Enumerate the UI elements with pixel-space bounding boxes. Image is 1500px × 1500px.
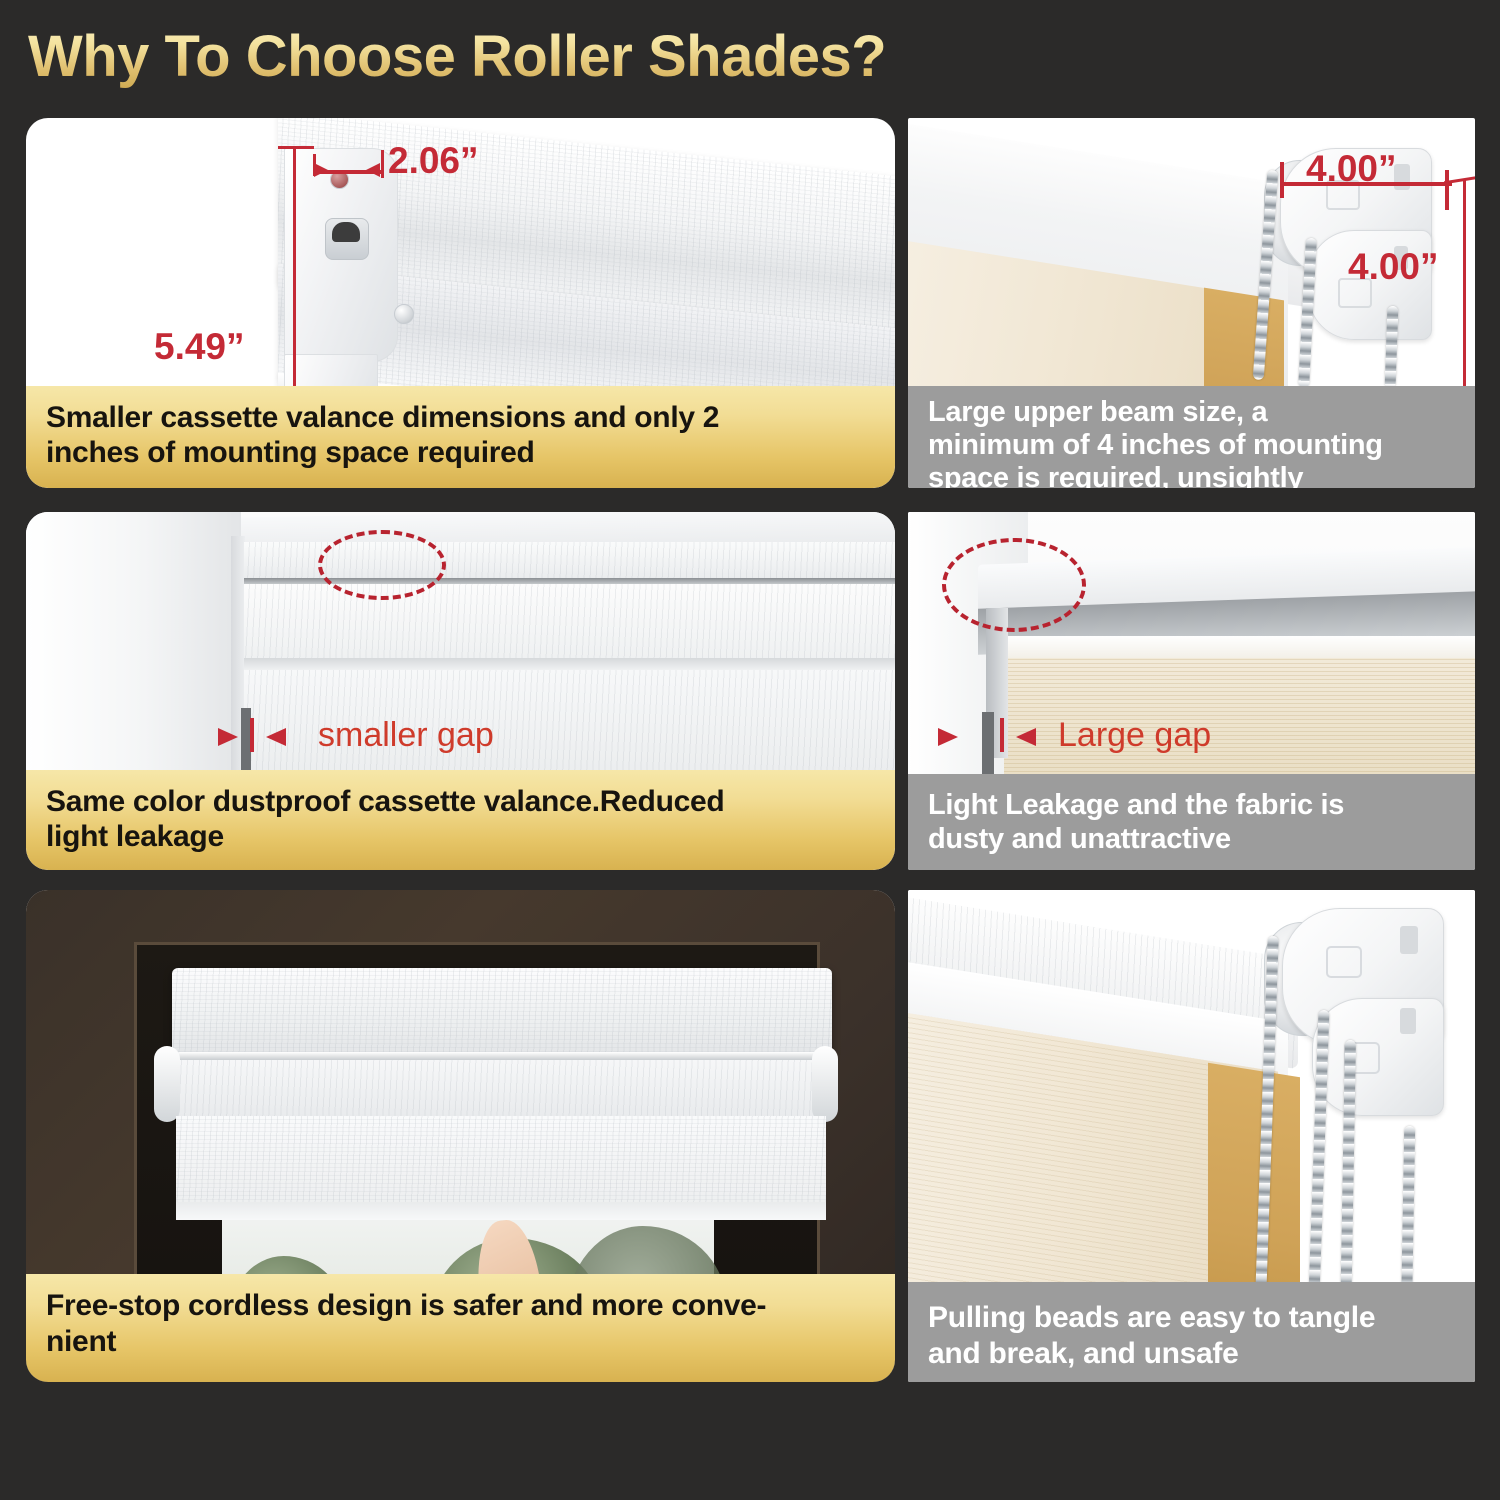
caption-line: and break, and unsafe xyxy=(928,1336,1457,1372)
page-title: Why To Choose Roller Shades? xyxy=(28,18,1228,96)
caption-smaller-cassette: Smaller cassette valance dimensions and … xyxy=(26,386,895,488)
panel-large-gap: Large gap Light Leakage and the fabric i… xyxy=(908,512,1475,870)
caption-pulling-beads: Pulling beads are easy to tangle and bre… xyxy=(908,1282,1475,1382)
caption-line: nient xyxy=(46,1324,877,1360)
caption-line: space is required, unsightly xyxy=(928,462,1457,488)
shade-fabric-top xyxy=(176,1060,826,1116)
beam-width-dimension-label: 4.00” xyxy=(1306,148,1397,190)
panel-cordless-design: Free-stop cordless design is safer and m… xyxy=(26,890,895,1382)
height-dimension-label: 5.49” xyxy=(154,326,245,368)
caption-line: inches of mounting space required xyxy=(46,435,877,470)
caption-line: dusty and unattractive xyxy=(928,822,1457,856)
caption-large-upper-beam: Large upper beam size, a minimum of 4 in… xyxy=(908,386,1475,488)
caption-cordless-design: Free-stop cordless design is safer and m… xyxy=(26,1274,895,1382)
bracket-slot xyxy=(1400,926,1418,954)
cassette-valance xyxy=(172,968,832,1060)
left-end-cap xyxy=(154,1046,180,1122)
caption-large-gap: Light Leakage and the fabric is dusty an… xyxy=(908,774,1475,870)
gap-arrow-right-icon xyxy=(218,728,238,746)
valance-mechanism-slot xyxy=(325,218,369,260)
gap-arrow-right-icon xyxy=(938,728,958,746)
width-dimension-label: 2.06” xyxy=(388,140,479,182)
caption-line: Smaller cassette valance dimensions and … xyxy=(46,400,877,435)
gap-indicator xyxy=(982,712,994,774)
bracket-slot xyxy=(1400,1008,1416,1034)
caption-line: Large upper beam size, a xyxy=(928,396,1457,429)
caption-smaller-gap: Same color dustproof cassette valance.Re… xyxy=(26,770,895,870)
right-end-cap xyxy=(812,1046,838,1122)
panel-smaller-gap: smaller gap Same color dustproof cassett… xyxy=(26,512,895,870)
caption-line: Same color dustproof cassette valance.Re… xyxy=(46,784,877,819)
bottom-rail xyxy=(176,1202,826,1220)
caption-line: light leakage xyxy=(46,819,877,854)
panel-large-upper-beam: 4.00” 4.00” Large upper beam size, a min… xyxy=(908,118,1475,488)
bracket-arrow-icon xyxy=(1326,946,1362,978)
caption-line: Light Leakage and the fabric is xyxy=(928,788,1457,822)
caption-line: minimum of 4 inches of mounting xyxy=(928,429,1457,462)
gap-arrow-left-icon xyxy=(1016,728,1036,746)
panel-pulling-beads: Pulling beads are easy to tangle and bre… xyxy=(908,890,1475,1382)
beam-height-dimension-label: 4.00” xyxy=(1348,246,1439,288)
shade-fabric-main xyxy=(176,1116,826,1216)
bead-chain xyxy=(1385,306,1399,388)
gap-arrow-left-icon xyxy=(266,728,286,746)
caption-line: Pulling beads are easy to tangle xyxy=(928,1300,1457,1336)
highlight-ellipse-gap xyxy=(942,538,1086,632)
window-jamb xyxy=(26,512,241,770)
smaller-gap-label: smaller gap xyxy=(318,716,494,755)
highlight-ellipse-gap xyxy=(318,530,446,600)
panel-smaller-cassette: 2.06” 5.49” Smaller cassette valance dim… xyxy=(26,118,895,488)
beam-height-dimension-line xyxy=(1463,180,1466,420)
caption-line: Free-stop cordless design is safer and m… xyxy=(46,1288,877,1324)
valance-seam xyxy=(176,1052,826,1060)
large-gap-label: Large gap xyxy=(1058,716,1211,755)
